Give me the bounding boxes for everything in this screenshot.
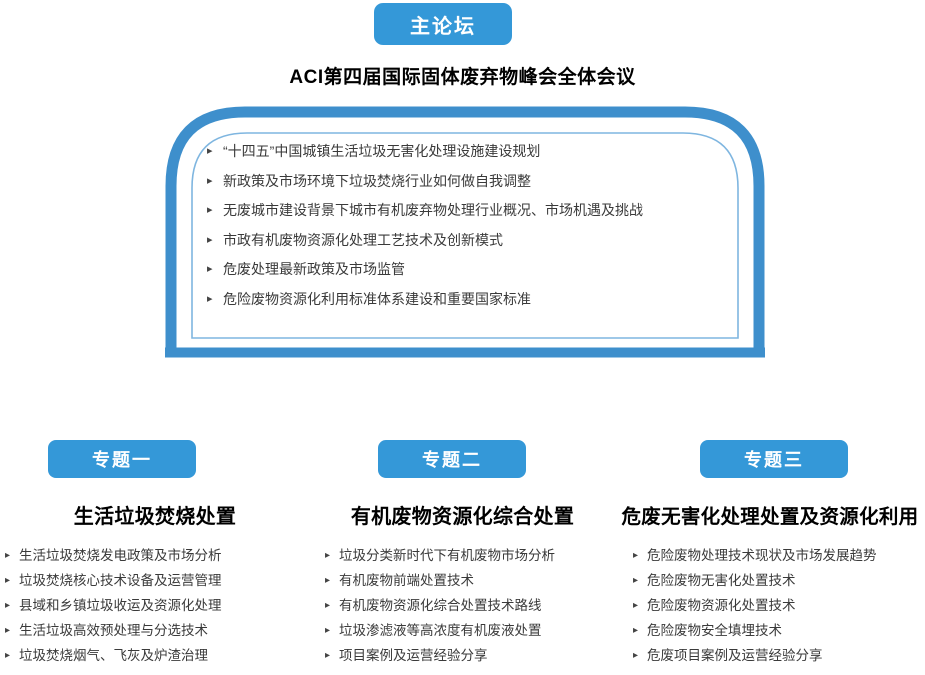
list-item[interactable]: ▸危废处理最新政策及市场监管 xyxy=(207,262,719,277)
triangle-bullet-icon: ▸ xyxy=(633,623,638,638)
triangle-bullet-icon: ▸ xyxy=(325,573,330,588)
list-item-label: 县域和乡镇垃圾收运及资源化处理 xyxy=(19,598,222,613)
triangle-bullet-icon: ▸ xyxy=(5,598,10,613)
arch-frame: ▸“十四五”中国城镇生活垃圾无害化处理设施建设规划 ▸新政策及市场环境下垃圾焚烧… xyxy=(165,106,765,358)
list-item[interactable]: ▸危险废物处理技术现状及市场发展趋势 xyxy=(633,548,925,563)
list-item[interactable]: ▸县域和乡镇垃圾收运及资源化处理 xyxy=(5,598,310,613)
list-item[interactable]: ▸“十四五”中国城镇生活垃圾无害化处理设施建设规划 xyxy=(207,144,719,159)
list-item-label: 危险废物处理技术现状及市场发展趋势 xyxy=(647,548,877,563)
list-item-label: 危废项目案例及运营经验分享 xyxy=(647,648,823,663)
list-item[interactable]: ▸垃圾渗滤液等高浓度有机废液处置 xyxy=(325,623,615,638)
topic-3-list: ▸危险废物处理技术现状及市场发展趋势 ▸危险废物无害化处置技术 ▸危险废物资源化… xyxy=(615,548,925,663)
triangle-bullet-icon: ▸ xyxy=(325,548,330,563)
list-item[interactable]: ▸生活垃圾高效预处理与分选技术 xyxy=(5,623,310,638)
list-item-label: 垃圾渗滤液等高浓度有机废液处置 xyxy=(339,623,542,638)
list-item-label: 新政策及市场环境下垃圾焚烧行业如何做自我调整 xyxy=(223,173,531,189)
list-item[interactable]: ▸生活垃圾焚烧发电政策及市场分析 xyxy=(5,548,310,563)
list-item-label: 危废处理最新政策及市场监管 xyxy=(223,261,405,277)
triangle-bullet-icon: ▸ xyxy=(633,573,638,588)
triangle-bullet-icon: ▸ xyxy=(325,623,330,638)
triangle-bullet-icon: ▸ xyxy=(5,648,10,663)
list-item-label: 危险废物无害化处置技术 xyxy=(647,573,796,588)
topic-column-3: 专题三 危废无害化处理处置及资源化利用 ▸危险废物处理技术现状及市场发展趋势 ▸… xyxy=(615,432,925,675)
topic-3-badge[interactable]: 专题三 xyxy=(700,440,848,478)
triangle-bullet-icon: ▸ xyxy=(633,648,638,663)
list-item-label: 生活垃圾高效预处理与分选技术 xyxy=(19,623,208,638)
triangle-bullet-icon: ▸ xyxy=(325,598,330,613)
topic-1-badge[interactable]: 专题一 xyxy=(48,440,196,478)
list-item[interactable]: ▸无废城市建设背景下城市有机废弃物处理行业概况、市场机遇及挑战 xyxy=(207,203,719,218)
triangle-bullet-icon: ▸ xyxy=(207,292,213,307)
triangle-bullet-icon: ▸ xyxy=(325,648,330,663)
list-item[interactable]: ▸危险废物无害化处置技术 xyxy=(633,573,925,588)
triangle-bullet-icon: ▸ xyxy=(207,144,213,159)
main-forum-section: 主论坛 ACI第四届国际固体废弃物峰会全体会议 ▸“十四五”中国城镇生活垃圾无害… xyxy=(0,0,925,420)
list-item[interactable]: ▸垃圾分类新时代下有机废物市场分析 xyxy=(325,548,615,563)
list-item-label: 有机废物前端处置技术 xyxy=(339,573,474,588)
list-item-label: 生活垃圾焚烧发电政策及市场分析 xyxy=(19,548,222,563)
list-item[interactable]: ▸有机废物资源化综合处置技术路线 xyxy=(325,598,615,613)
list-item[interactable]: ▸新政策及市场环境下垃圾焚烧行业如何做自我调整 xyxy=(207,174,719,189)
triangle-bullet-icon: ▸ xyxy=(207,174,213,189)
list-item-label: 无废城市建设背景下城市有机废弃物处理行业概况、市场机遇及挑战 xyxy=(223,202,643,218)
triangle-bullet-icon: ▸ xyxy=(5,573,10,588)
triangle-bullet-icon: ▸ xyxy=(5,623,10,638)
list-item[interactable]: ▸项目案例及运营经验分享 xyxy=(325,648,615,663)
triangle-bullet-icon: ▸ xyxy=(207,203,213,218)
list-item[interactable]: ▸有机废物前端处置技术 xyxy=(325,573,615,588)
list-item-label: 垃圾分类新时代下有机废物市场分析 xyxy=(339,548,555,563)
triangle-bullet-icon: ▸ xyxy=(633,598,638,613)
list-item[interactable]: ▸垃圾焚烧烟气、飞灰及炉渣治理 xyxy=(5,648,310,663)
topic-column-1: 专题一 生活垃圾焚烧处置 ▸生活垃圾焚烧发电政策及市场分析 ▸垃圾焚烧核心技术设… xyxy=(0,432,310,675)
triangle-bullet-icon: ▸ xyxy=(207,262,213,277)
list-item[interactable]: ▸危废项目案例及运营经验分享 xyxy=(633,648,925,663)
triangle-bullet-icon: ▸ xyxy=(207,233,213,248)
list-item-label: 危险废物资源化处置技术 xyxy=(647,598,796,613)
topic-2-list: ▸垃圾分类新时代下有机废物市场分析 ▸有机废物前端处置技术 ▸有机废物资源化综合… xyxy=(310,548,615,663)
triangle-bullet-icon: ▸ xyxy=(5,548,10,563)
main-forum-topic-list: ▸“十四五”中国城镇生活垃圾无害化处理设施建设规划 ▸新政策及市场环境下垃圾焚烧… xyxy=(207,144,719,321)
triangle-bullet-icon: ▸ xyxy=(633,548,638,563)
main-forum-badge[interactable]: 主论坛 xyxy=(374,3,512,45)
list-item-label: 市政有机废物资源化处理工艺技术及创新模式 xyxy=(223,232,503,248)
list-item-label: “十四五”中国城镇生活垃圾无害化处理设施建设规划 xyxy=(223,143,540,159)
list-item[interactable]: ▸危险废物资源化处置技术 xyxy=(633,598,925,613)
list-item[interactable]: ▸危险废物安全填埋技术 xyxy=(633,623,925,638)
main-forum-title: ACI第四届国际固体废弃物峰会全体会议 xyxy=(0,62,925,89)
list-item[interactable]: ▸垃圾焚烧核心技术设备及运营管理 xyxy=(5,573,310,588)
list-item-label: 项目案例及运营经验分享 xyxy=(339,648,488,663)
topic-columns: 专题一 生活垃圾焚烧处置 ▸生活垃圾焚烧发电政策及市场分析 ▸垃圾焚烧核心技术设… xyxy=(0,432,925,675)
list-item-label: 有机废物资源化综合处置技术路线 xyxy=(339,598,542,613)
topic-3-heading: 危废无害化处理处置及资源化利用 xyxy=(615,500,925,529)
topic-1-list: ▸生活垃圾焚烧发电政策及市场分析 ▸垃圾焚烧核心技术设备及运营管理 ▸县域和乡镇… xyxy=(0,548,310,663)
list-item[interactable]: ▸市政有机废物资源化处理工艺技术及创新模式 xyxy=(207,233,719,248)
topic-1-heading: 生活垃圾焚烧处置 xyxy=(0,500,310,529)
list-item-label: 垃圾焚烧核心技术设备及运营管理 xyxy=(19,573,222,588)
list-item[interactable]: ▸危险废物资源化利用标准体系建设和重要国家标准 xyxy=(207,292,719,307)
list-item-label: 危险废物安全填埋技术 xyxy=(647,623,782,638)
list-item-label: 垃圾焚烧烟气、飞灰及炉渣治理 xyxy=(19,648,208,663)
list-item-label: 危险废物资源化利用标准体系建设和重要国家标准 xyxy=(223,291,531,307)
topic-2-badge[interactable]: 专题二 xyxy=(378,440,526,478)
topic-column-2: 专题二 有机废物资源化综合处置 ▸垃圾分类新时代下有机废物市场分析 ▸有机废物前… xyxy=(310,432,615,675)
topic-2-heading: 有机废物资源化综合处置 xyxy=(310,500,615,529)
